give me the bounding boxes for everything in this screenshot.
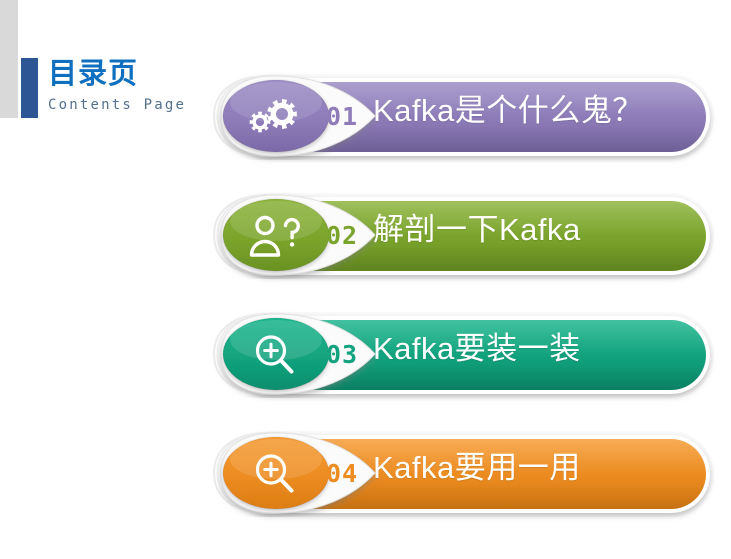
contents-row-03[interactable]: Kafka要装一装03 xyxy=(213,310,710,398)
row-badge[interactable]: 01 xyxy=(213,72,388,160)
blue-accent-bar xyxy=(21,58,38,118)
row-badge[interactable]: 03 xyxy=(213,310,388,398)
page-subtitle: Contents Page xyxy=(48,95,186,115)
page-title: 目录页 xyxy=(48,56,186,92)
row-number: 04 xyxy=(321,429,363,517)
row-label: Kafka是个什么鬼？ xyxy=(373,72,686,142)
row-badge[interactable]: 04 xyxy=(213,429,388,517)
row-number: 03 xyxy=(321,310,363,398)
row-label: 解剖一下Kafka xyxy=(373,191,686,261)
row-number: 02 xyxy=(321,191,363,279)
row-badge[interactable]: 02 xyxy=(213,191,388,279)
row-label: Kafka要装一装 xyxy=(373,310,686,380)
title-block: 目录页 Contents Page xyxy=(48,56,186,115)
row-label: Kafka要用一用 xyxy=(373,429,686,499)
gray-accent-bar xyxy=(0,0,18,118)
contents-row-04[interactable]: Kafka要用一用04 xyxy=(213,429,710,517)
row-number: 01 xyxy=(321,72,363,160)
contents-row-01[interactable]: Kafka是个什么鬼？01 xyxy=(213,72,710,160)
contents-row-02[interactable]: 解剖一下Kafka02 xyxy=(213,191,710,279)
